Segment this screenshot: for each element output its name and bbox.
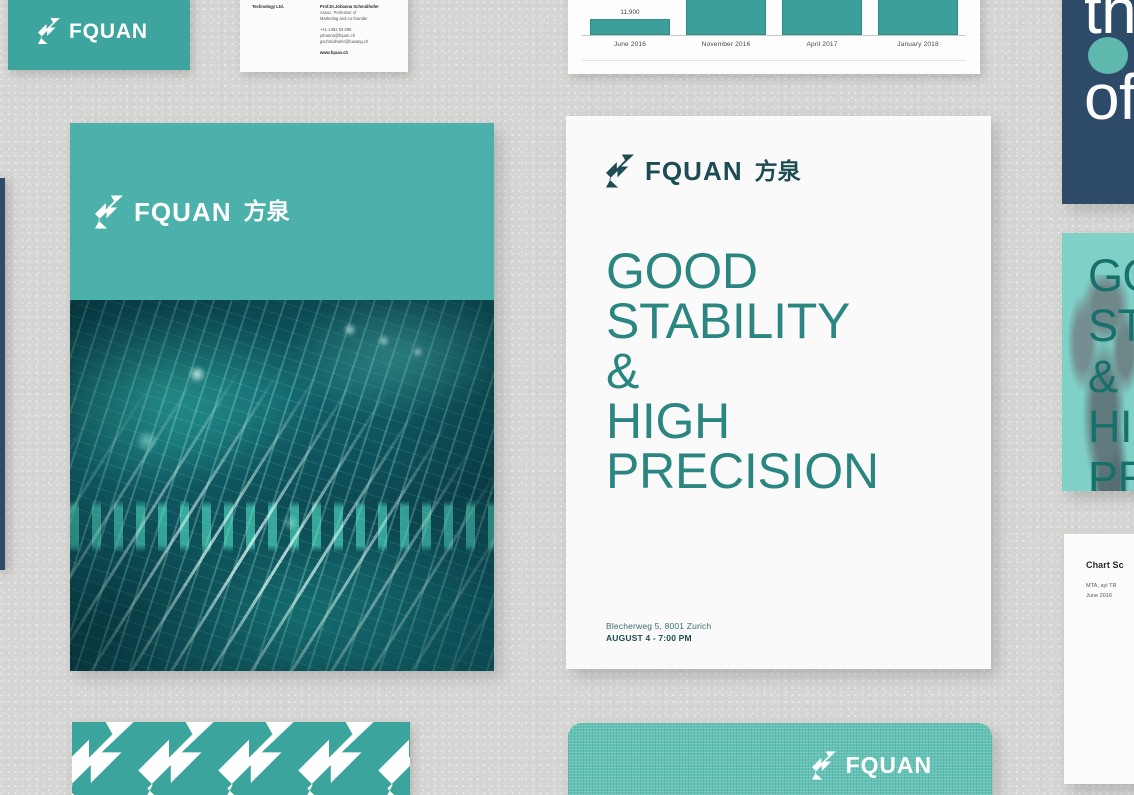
- document-subline-1: MTA, ayl TR: [1086, 582, 1134, 592]
- chart-sheet[interactable]: 11,900 34,000 June 2016 November 2016 Ap…: [568, 0, 980, 74]
- card-right-column: Prof.Dr.Johanna Schmidhofer Assoc. Profe…: [320, 4, 396, 72]
- headline-line-4: HIGH: [606, 396, 957, 446]
- headline-line-5: PRECISION: [606, 446, 957, 496]
- poster-datetime: AUGUST 4 - 7:00 PM: [606, 633, 711, 643]
- teal-headline-line-5: PR: [1088, 453, 1134, 491]
- navy-poster[interactable]: th of: [1062, 0, 1134, 204]
- bar-value-label: 11,900: [620, 9, 639, 16]
- headline-line-2: STABILITY: [606, 296, 957, 346]
- fquan-chevron-mark-icon: [378, 722, 410, 795]
- headline-line-1: GOOD: [606, 246, 957, 296]
- chart-tick-label: January 2018: [878, 41, 958, 48]
- fquan-chevron-mark-icon: [138, 722, 218, 795]
- event-poster[interactable]: FQUAN 方泉 GOOD STABILITY & HIGH PRECISION…: [566, 116, 991, 669]
- chart-tick-label: April 2017: [782, 41, 862, 48]
- poster-address: Blecherweg 5, 8001 Zurich: [606, 621, 711, 631]
- card-left-column: Technology Ltd.: [252, 4, 314, 72]
- card-role-line-2: Marketing and co-founder: [320, 16, 396, 22]
- fquan-chevron-mark-icon: [72, 722, 138, 795]
- brochure-logo: FQUAN 方泉: [95, 195, 290, 229]
- teal-business-card[interactable]: FQUAN: [8, 0, 190, 70]
- chart-bar: [782, 0, 862, 35]
- fquan-chevron-mark-icon: [606, 154, 634, 188]
- bar-chart: 11,900 34,000: [582, 0, 966, 36]
- fquan-chevron-mark-icon: [298, 722, 378, 795]
- branding-mockup-canvas: FQUAN Technology Ltd. Prof.Dr.Johanna Sc…: [0, 0, 1134, 795]
- poster-footer: Blecherweg 5, 8001 Zurich AUGUST 4 - 7:0…: [606, 621, 711, 643]
- card-company-line: Technology Ltd.: [252, 4, 314, 10]
- chart-column: 11,900: [590, 0, 670, 35]
- brochure-cover[interactable]: FQUAN 方泉: [70, 123, 494, 671]
- card-wordmark: FQUAN: [69, 21, 148, 42]
- chart-tick-label: November 2016: [686, 41, 766, 48]
- card-email-2: gschmidhofer@fuwang.ch: [320, 39, 396, 45]
- fabric-logo: FQUAN: [812, 751, 932, 780]
- sheet-divider: [582, 60, 966, 61]
- poster-cjk-name: 方泉: [755, 160, 801, 183]
- chart-bar: [686, 0, 766, 35]
- card-website: www.fquan.ch: [320, 50, 396, 56]
- chart-column: 34,000: [686, 0, 766, 35]
- chart-axis-labels: June 2016 November 2016 April 2017 Janua…: [582, 36, 966, 48]
- pattern-motif-row: [72, 722, 410, 795]
- pattern-sheet[interactable]: [72, 722, 410, 795]
- fquan-chevron-mark-icon: [95, 195, 123, 229]
- chart-bar: [590, 19, 670, 35]
- card-logo: FQUAN: [38, 18, 148, 44]
- teal-poster[interactable]: GO ST & HI PR: [1062, 233, 1134, 491]
- teal-headline-line-1: GO: [1088, 251, 1134, 301]
- teal-headline-line-3: &: [1088, 352, 1134, 402]
- headline-line-3: &: [606, 346, 957, 396]
- fabric-wordmark: FQUAN: [846, 754, 932, 777]
- poster-wordmark: FQUAN: [645, 158, 743, 184]
- document-subline-2: June 2016: [1086, 592, 1134, 602]
- teal-headline-line-4: HI: [1088, 402, 1134, 452]
- brochure-wordmark: FQUAN: [134, 199, 232, 225]
- chart-bar: [878, 0, 958, 35]
- fquan-chevron-mark-icon: [218, 722, 298, 795]
- chart-tick-label: June 2016: [590, 41, 670, 48]
- fabric-item[interactable]: FQUAN: [568, 723, 992, 795]
- teal-headline-line-2: ST: [1088, 301, 1134, 351]
- navy-headline-line-1: th: [1084, 0, 1134, 41]
- chart-column: [782, 0, 862, 35]
- white-business-card[interactable]: Technology Ltd. Prof.Dr.Johanna Schmidho…: [240, 0, 408, 72]
- teal-poster-headline: GO ST & HI PR: [1088, 251, 1134, 491]
- chart-document[interactable]: Chart Sc MTA, ayl TR June 2016: [1064, 534, 1134, 784]
- fquan-chevron-mark-icon: [812, 751, 836, 780]
- fquan-chevron-mark-icon: [38, 18, 60, 44]
- circuit-board-photo: [70, 300, 494, 671]
- navy-edge-sliver: [0, 178, 5, 570]
- brochure-header: FQUAN 方泉: [70, 123, 494, 300]
- document-title: Chart Sc: [1086, 560, 1134, 570]
- chart-column: [878, 0, 958, 35]
- navy-headline-line-2: of: [1084, 68, 1134, 127]
- poster-logo: FQUAN 方泉: [606, 154, 957, 188]
- poster-headline: GOOD STABILITY & HIGH PRECISION: [606, 246, 957, 496]
- brochure-cjk-name: 方泉: [244, 200, 290, 223]
